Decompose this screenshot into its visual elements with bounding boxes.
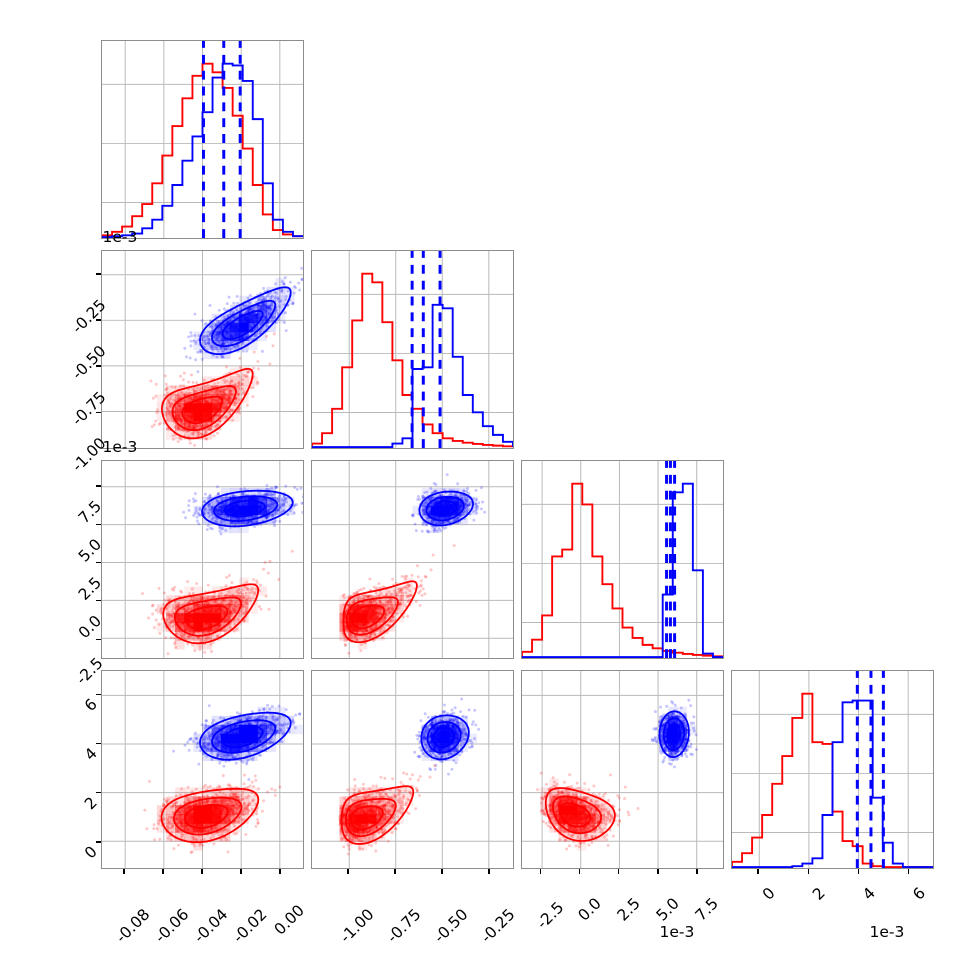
tick-mark <box>96 743 101 744</box>
tick-mark <box>162 869 163 874</box>
tick-mark <box>96 600 101 601</box>
y-axis-offset-row2: 1e-3 <box>103 228 138 246</box>
tick-mark <box>696 869 697 874</box>
x-tick-label: -0.04 <box>190 905 231 946</box>
y-tick-label: 0 <box>81 843 101 863</box>
x-axis-offset-col3: 1e-3 <box>660 923 695 941</box>
diagonal-histogram-p3 <box>521 460 724 659</box>
x-tick-label: -0.50 <box>430 905 471 946</box>
corner-plot-figure: -0.08-0.06-0.04-0.020.00-1.00-0.75-0.50-… <box>0 0 970 970</box>
x-tick-label: -0.08 <box>112 905 153 946</box>
tick-mark <box>201 869 202 874</box>
tick-mark <box>908 869 909 874</box>
x-tick-label: -0.06 <box>151 905 192 946</box>
x-tick-label: -0.02 <box>229 905 270 946</box>
tick-mark <box>96 485 101 486</box>
y-tick-label: 6 <box>81 695 101 715</box>
joint-panel-p1-p3 <box>101 460 304 659</box>
x-tick-label: -0.75 <box>383 905 424 946</box>
tick-mark <box>96 792 101 793</box>
x-axis-offset-col4: 1e-3 <box>870 923 905 941</box>
x-tick-label: 4 <box>859 884 879 904</box>
tick-mark <box>441 869 442 874</box>
x-tick-label: 0.00 <box>271 901 308 938</box>
diagonal-histogram-p1 <box>101 40 304 239</box>
tick-mark <box>96 524 101 525</box>
x-tick-label: -2.5 <box>533 898 567 932</box>
tick-mark <box>540 869 541 874</box>
tick-mark <box>657 869 658 874</box>
x-tick-label: -1.00 <box>336 905 377 946</box>
tick-mark <box>347 869 348 874</box>
joint-panel-p2-p3 <box>311 460 514 659</box>
y-tick-label: 4 <box>81 744 101 764</box>
x-tick-label: 2 <box>809 884 829 904</box>
y-axis-offset-row3: 1e-3 <box>103 438 138 456</box>
tick-mark <box>488 869 489 874</box>
tick-mark <box>618 869 619 874</box>
x-tick-label: 0.0 <box>575 894 605 924</box>
x-tick-label: -0.25 <box>477 905 518 946</box>
tick-mark <box>96 562 101 563</box>
x-tick-label: 5.0 <box>653 894 683 924</box>
x-tick-label: 0 <box>759 884 779 904</box>
tick-mark <box>96 639 101 640</box>
tick-mark <box>757 869 758 874</box>
tick-mark <box>96 841 101 842</box>
tick-mark <box>96 273 101 274</box>
tick-mark <box>579 869 580 874</box>
x-tick-label: 2.5 <box>614 894 644 924</box>
tick-mark <box>858 869 859 874</box>
joint-panel-p2-p4 <box>311 670 514 869</box>
joint-panel-p1-p4 <box>101 670 304 869</box>
tick-mark <box>96 694 101 695</box>
diagonal-histogram-p2 <box>311 250 514 449</box>
tick-mark <box>240 869 241 874</box>
joint-panel-p1-p2 <box>101 250 304 449</box>
tick-mark <box>279 869 280 874</box>
x-tick-label: 6 <box>909 884 929 904</box>
x-tick-label: 7.5 <box>692 894 722 924</box>
y-tick-label: 2 <box>81 793 101 813</box>
tick-mark <box>808 869 809 874</box>
diagonal-histogram-p4 <box>731 670 934 869</box>
tick-mark <box>123 869 124 874</box>
joint-panel-p3-p4 <box>521 670 724 869</box>
tick-mark <box>394 869 395 874</box>
